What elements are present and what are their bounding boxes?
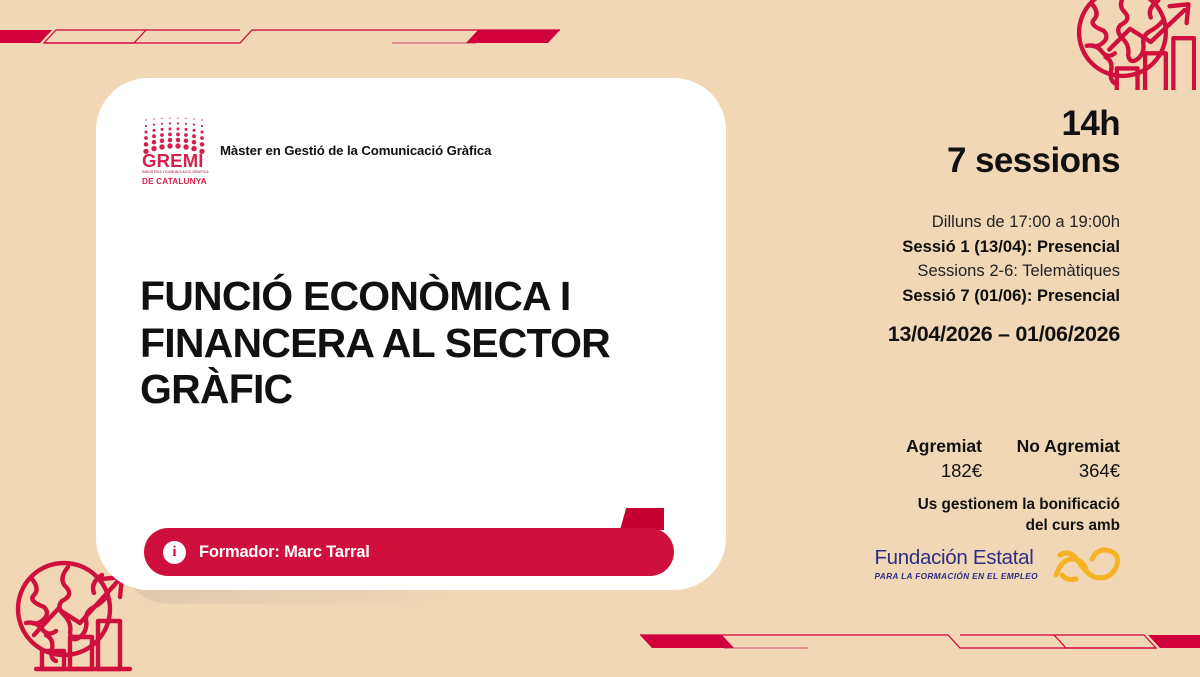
price-value-nonmember: 364€ <box>996 460 1120 482</box>
pricing-values: 182€ 364€ <box>780 460 1120 482</box>
ribbon-tab <box>620 508 664 530</box>
gremi-wordmark: GREMI <box>142 152 206 171</box>
sessions-value: 7 sessions <box>947 142 1120 179</box>
instructor-ribbon: i Formador: Marc Tarral <box>144 528 674 576</box>
details-column: 14h 7 sessions Dilluns de 17:00 a 19:00h… <box>780 0 1120 675</box>
card-header: GREMI INDÚSTRIA I COMUNICACIÓ GRÀFICA DE… <box>142 116 491 188</box>
schedule-line: Dilluns de 17:00 a 19:00h <box>780 210 1120 235</box>
date-range: 13/04/2026 – 01/06/2026 <box>888 322 1120 347</box>
fundacion-title: Fundación Estatal <box>874 547 1038 569</box>
pricing-headers: Agremiat No Agremiat <box>780 436 1120 457</box>
schedule-list: Dilluns de 17:00 a 19:00h Sessió 1 (13/0… <box>780 210 1120 308</box>
instructor-banner: i Formador: Marc Tarral <box>144 520 674 576</box>
gremi-subtitle: DE CATALUNYA <box>142 177 206 185</box>
fundacion-subtitle: PARA LA FORMACIÓN EN EL EMPLEO <box>874 571 1038 581</box>
schedule-line: Sessió 7 (01/06): Presencial <box>780 284 1120 309</box>
price-header-nonmember: No Agremiat <box>996 436 1120 457</box>
pricing-table: Agremiat No Agremiat 182€ 364€ <box>780 436 1120 482</box>
info-icon: i <box>163 541 186 564</box>
gremi-microtext: INDÚSTRIA I COMUNICACIÓ GRÀFICA <box>142 171 206 174</box>
bonification-note: Us gestionem la bonificació del curs amb <box>918 495 1120 536</box>
instructor-label: Formador: Marc Tarral <box>199 543 370 562</box>
master-program-label: Màster en Gestió de la Comunicació Gràfi… <box>220 143 491 162</box>
gremi-logo: GREMI INDÚSTRIA I COMUNICACIÓ GRÀFICA DE… <box>142 116 206 188</box>
fundacion-ribbon-icon <box>1050 543 1122 585</box>
page-title: FUNCIÓ ECONÒMICA I FINANCERA AL SECTOR G… <box>140 273 680 413</box>
schedule-line: Sessió 1 (13/04): Presencial <box>780 235 1120 260</box>
fundacion-estatal-logo: Fundación Estatal PARA LA FORMACIÓN EN E… <box>874 543 1122 585</box>
decor-lines-top-left <box>0 0 620 70</box>
schedule-line: Sessions 2-6: Telemàtiques <box>780 259 1120 284</box>
price-header-member: Agremiat <box>878 436 982 457</box>
bonification-line-1: Us gestionem la bonificació <box>918 495 1120 516</box>
duration-block: 14h 7 sessions <box>947 105 1120 179</box>
price-value-member: 182€ <box>878 460 982 482</box>
fundacion-text: Fundación Estatal PARA LA FORMACIÓN EN E… <box>874 547 1038 581</box>
hours-value: 14h <box>947 105 1120 142</box>
course-card: GREMI INDÚSTRIA I COMUNICACIÓ GRÀFICA DE… <box>96 78 726 590</box>
bonification-line-2: del curs amb <box>918 516 1120 537</box>
